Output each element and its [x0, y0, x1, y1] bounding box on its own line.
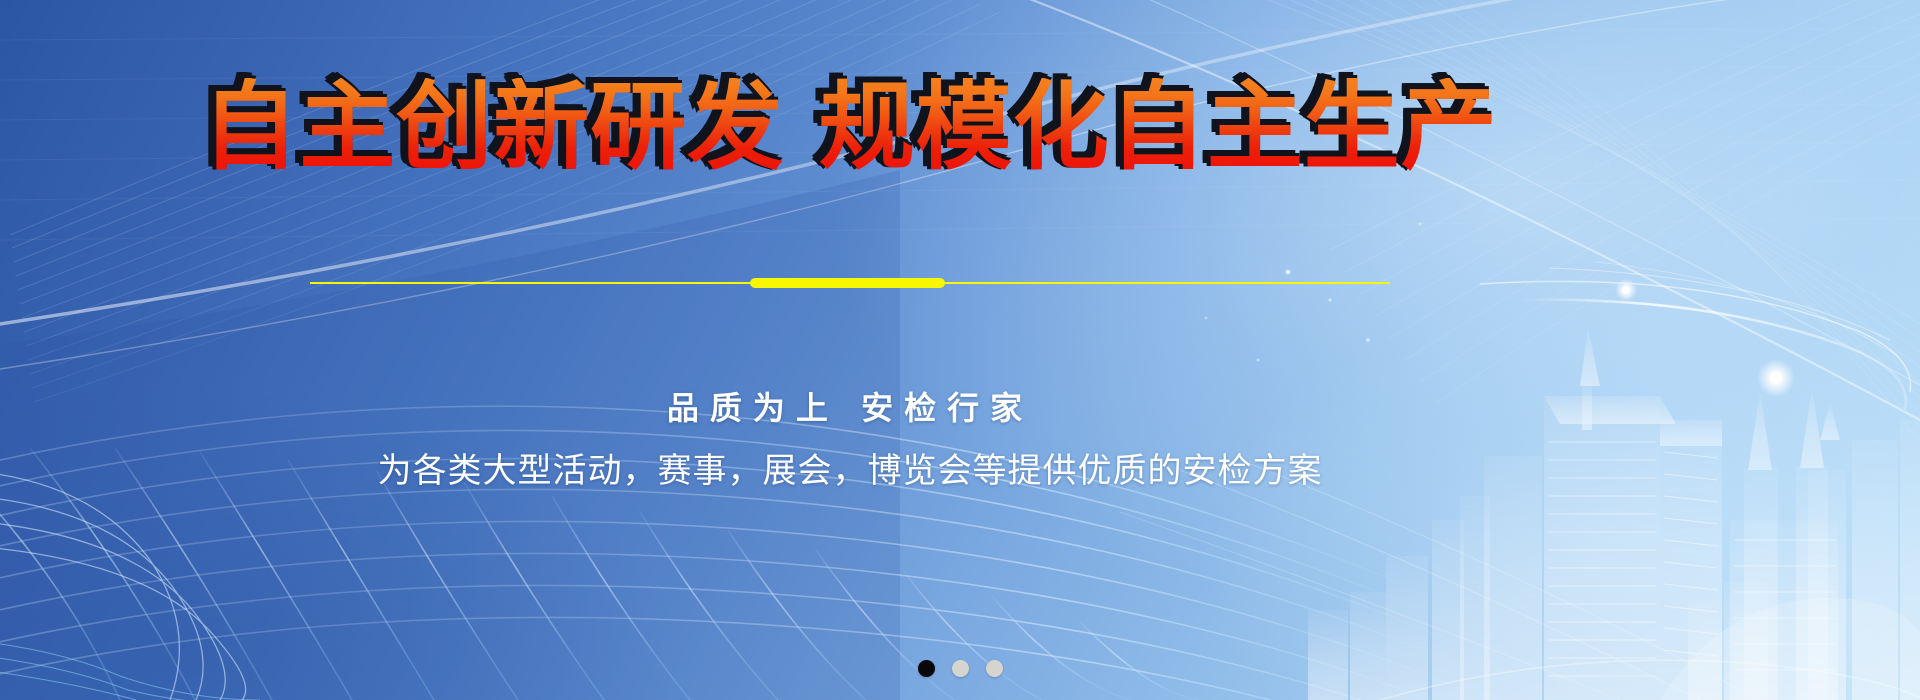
carousel-next-button[interactable]: [1830, 0, 1920, 700]
divider: [310, 277, 1390, 289]
carousel-pagination: [0, 660, 1920, 677]
subtitle-primary: 品质为上 安检行家: [0, 383, 1700, 429]
carousel-dot-1[interactable]: [918, 660, 935, 677]
hero-banner: 自主创新研发 规模化自主生产 品质为上 安检行家 为各类大型活动，赛事，展会，博…: [0, 0, 1920, 700]
page-title: 自主创新研发 规模化自主生产: [202, 78, 1497, 178]
carousel-prev-button[interactable]: [0, 0, 90, 700]
headline-container: 自主创新研发 规模化自主生产: [0, 78, 1700, 178]
banner-content: 自主创新研发 规模化自主生产 品质为上 安检行家 为各类大型活动，赛事，展会，博…: [0, 0, 1920, 700]
carousel-dot-3[interactable]: [986, 660, 1003, 677]
carousel-dot-2[interactable]: [952, 660, 969, 677]
subtitle-secondary: 为各类大型活动，赛事，展会，博览会等提供优质的安检方案: [0, 443, 1700, 492]
divider-accent-bar: [750, 278, 945, 288]
